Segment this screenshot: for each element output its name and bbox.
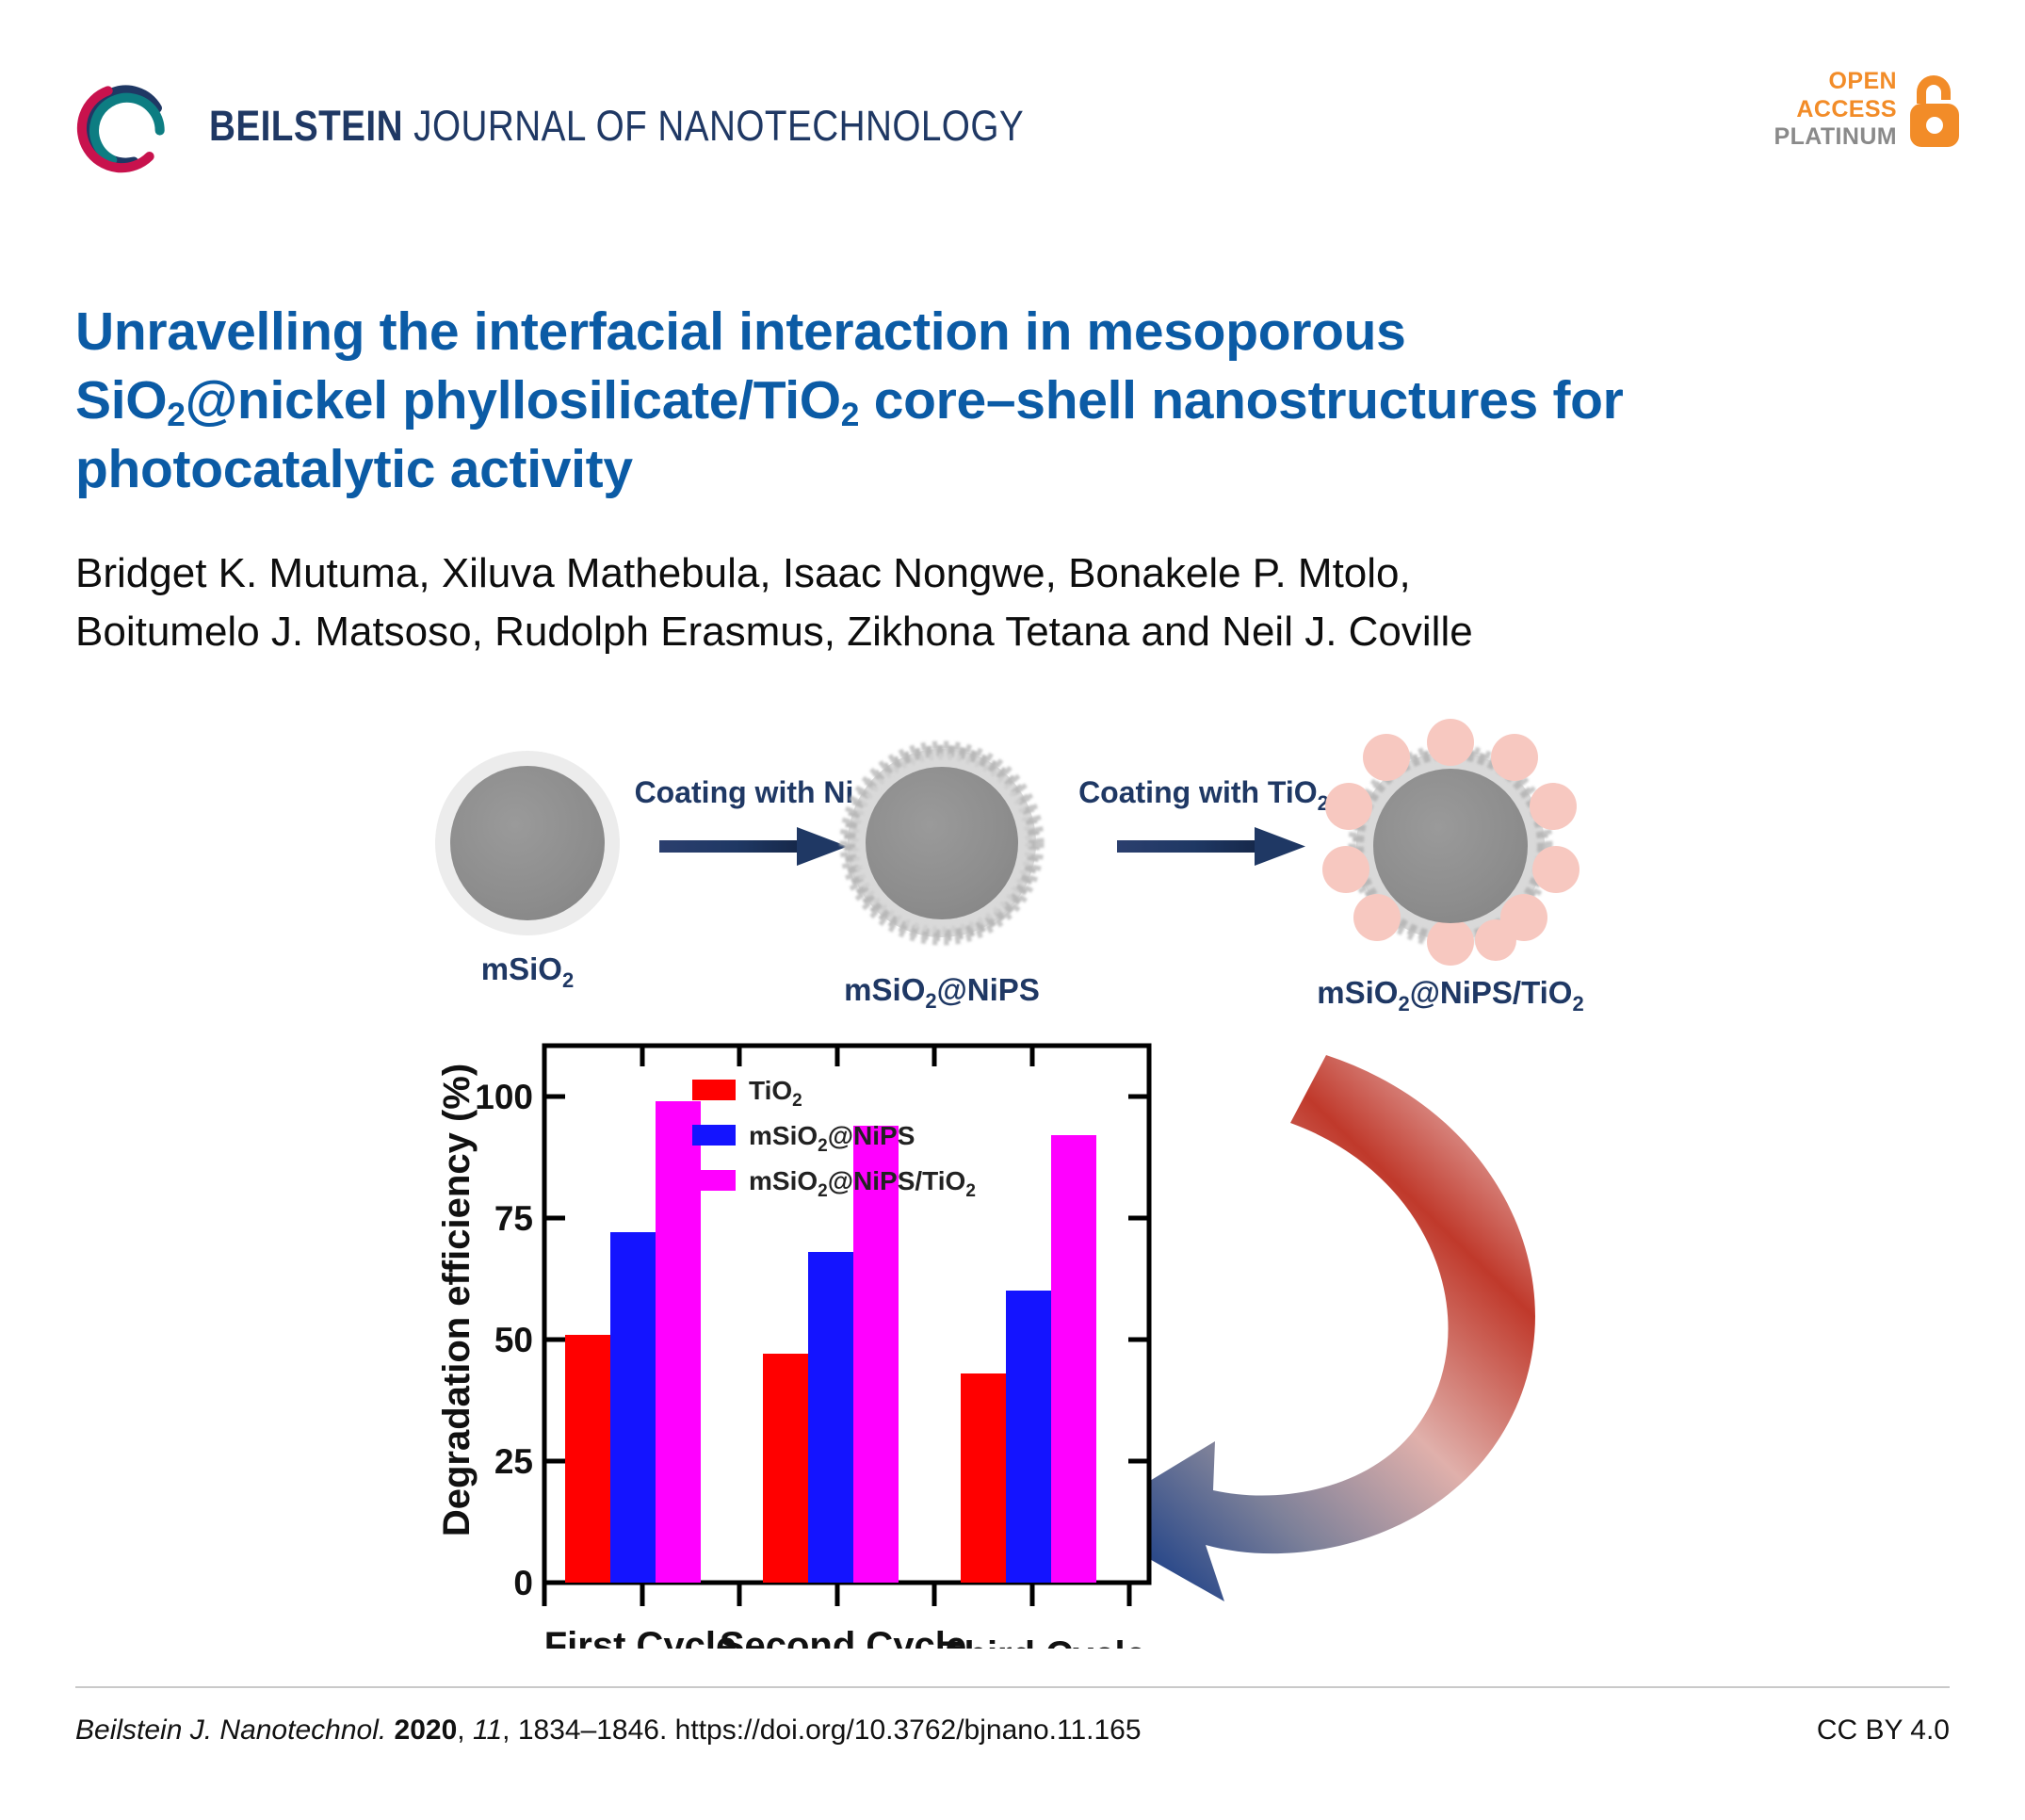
chart-ylabel: Degradation efficiency (%) <box>436 1064 478 1536</box>
citation-comma-1: , <box>457 1714 464 1746</box>
particle-label-msio2-nips-tio2: mSiO2@NiPS/TiO2 <box>1317 975 1583 1016</box>
open-access-line-open: OPEN <box>1774 68 1898 96</box>
chart-x-tick-labels: First Cycle Second Cycle Third Cycle <box>544 1625 1146 1649</box>
title-sub-1: 2 <box>167 397 185 433</box>
legend-swatch-msio2-nips-tio2 <box>692 1170 736 1191</box>
bar-first-msio2-nips <box>610 1232 656 1583</box>
wordmark-light: JOURNAL OF NANOTECHNOLOGY <box>403 102 1024 150</box>
title-line-3: photocatalytic activity <box>75 439 633 499</box>
masthead: BEILSTEIN JOURNAL OF NANOTECHNOLOGY OPEN… <box>0 0 2025 188</box>
open-access-line-access: ACCESS <box>1774 96 1898 124</box>
wordmark-bold: BEILSTEIN <box>209 102 403 150</box>
chart-y-tick-labels: 0 25 50 75 100 <box>475 1078 533 1602</box>
title-sub-2: 2 <box>841 397 859 433</box>
title-line-1: Unravelling the interfacial interaction … <box>75 301 1406 362</box>
particle-label-msio2-nips: mSiO2@NiPS <box>844 972 1040 1013</box>
ytick-50: 50 <box>494 1321 533 1359</box>
beilstein-spiral-logo-icon <box>73 73 177 179</box>
legend-swatch-tio2 <box>692 1080 736 1100</box>
open-access-text: OPEN ACCESS PLATINUM <box>1774 68 1898 152</box>
arrow2-shaft <box>1117 840 1256 853</box>
xtick-second-cycle: Second Cycle <box>720 1625 966 1649</box>
legend-swatch-msio2-nips <box>692 1125 736 1146</box>
step2-label: Coating with TiO2 <box>1078 775 1329 815</box>
citation-year: 2020 <box>395 1714 458 1746</box>
bar-third-tio2 <box>961 1373 1006 1583</box>
citation-comma-2: , <box>502 1714 510 1746</box>
degradation-efficiency-chart: Degradation efficiency (%) 0 25 50 75 10… <box>436 1046 1149 1649</box>
scheme-arrow-1: Coating with Ni <box>635 775 854 866</box>
xtick-third-cycle: Third Cycle <box>941 1634 1146 1649</box>
msio2-core <box>450 766 605 920</box>
arrow2-head <box>1255 827 1305 866</box>
particle-msio2: mSiO2 <box>435 751 620 992</box>
nips-core <box>866 767 1018 919</box>
bar-first-tio2 <box>565 1335 610 1583</box>
arrow1-head <box>797 827 848 866</box>
step1-label: Coating with Ni <box>635 775 854 809</box>
arrow1-shaft <box>659 840 799 853</box>
citation-journal: Beilstein J. Nanotechnol. <box>75 1714 386 1746</box>
citation-pages: 1834–1846. <box>518 1714 668 1746</box>
citation-volume: 11 <box>473 1714 502 1746</box>
footer-citation: Beilstein J. Nanotechnol. 2020, 11, 1834… <box>75 1714 1142 1747</box>
page-title: Unravelling the interfacial interaction … <box>75 298 1921 504</box>
graphical-abstract: mSiO2 Coating with Ni mSiO2@NiPS Coating… <box>0 716 2025 1649</box>
bar-second-msio2-nips <box>808 1252 853 1583</box>
ytick-0: 0 <box>513 1564 533 1602</box>
journal-wordmark: BEILSTEIN JOURNAL OF NANOTECHNOLOGY <box>209 102 1024 151</box>
journal-brand: BEILSTEIN JOURNAL OF NANOTECHNOLOGY <box>73 73 1157 179</box>
graphical-abstract-figure: mSiO2 Coating with Ni mSiO2@NiPS Coating… <box>0 716 2025 1649</box>
title-line-2-pre: SiO <box>75 370 167 431</box>
license-label: CC BY 4.0 <box>1817 1714 1950 1747</box>
title-line-2-mid: @nickel phyllosilicate/TiO <box>186 370 841 431</box>
open-padlock-icon <box>1908 70 1961 149</box>
open-access-line-platinum: PLATINUM <box>1774 123 1898 152</box>
particle-msio2-nips-tio2: mSiO2@NiPS/TiO2 <box>1317 719 1583 1016</box>
ytick-25: 25 <box>494 1442 533 1481</box>
bar-second-tio2 <box>763 1354 808 1583</box>
tio2-core <box>1373 769 1528 923</box>
author-line-1: Bridget K. Mutuma, Xiluva Mathebula, Isa… <box>75 544 1921 603</box>
author-list: Bridget K. Mutuma, Xiluva Mathebula, Isa… <box>75 544 1921 662</box>
scheme-arrow-2: Coating with TiO2 <box>1078 775 1329 866</box>
open-access-badge: OPEN ACCESS PLATINUM <box>1774 68 1962 152</box>
author-line-2: Boitumelo J. Matsoso, Rudolph Erasmus, Z… <box>75 603 1921 661</box>
ytick-100: 100 <box>475 1078 533 1116</box>
bar-third-msio2-nips-tio2 <box>1051 1135 1096 1583</box>
xtick-first-cycle: First Cycle <box>544 1625 737 1649</box>
particle-label-msio2: mSiO2 <box>481 951 574 992</box>
bar-third-msio2-nips <box>1006 1291 1051 1583</box>
title-line-2-post: core–shell nanostructures for <box>859 370 1623 431</box>
ytick-75: 75 <box>494 1199 533 1238</box>
particle-msio2-nips: mSiO2@NiPS <box>844 745 1040 1013</box>
footer-divider <box>75 1686 1950 1688</box>
citation-doi[interactable]: https://doi.org/10.3762/bjnano.11.165 <box>675 1714 1142 1746</box>
